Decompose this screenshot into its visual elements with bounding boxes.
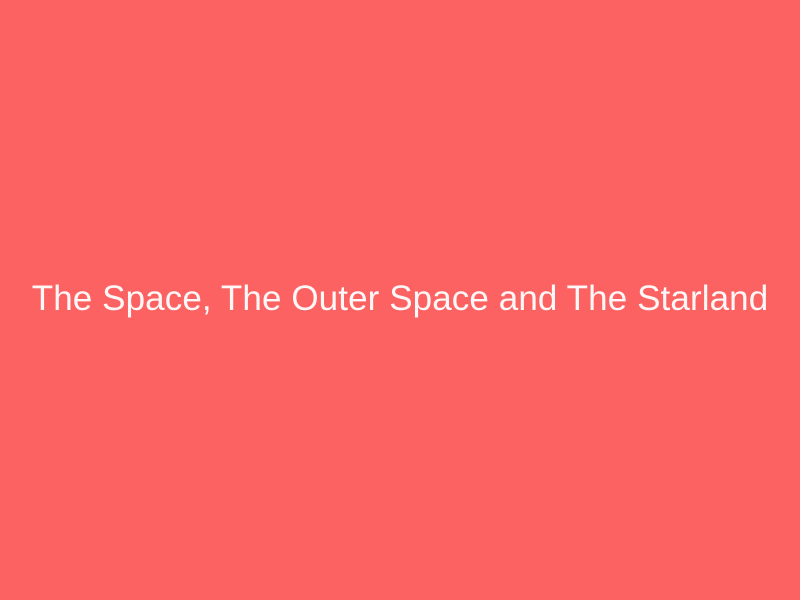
placeholder-screen: The Space, The Outer Space and The Starl… [0, 0, 800, 600]
placeholder-message-text: The Space, The Outer Space and The Starl… [32, 278, 769, 320]
